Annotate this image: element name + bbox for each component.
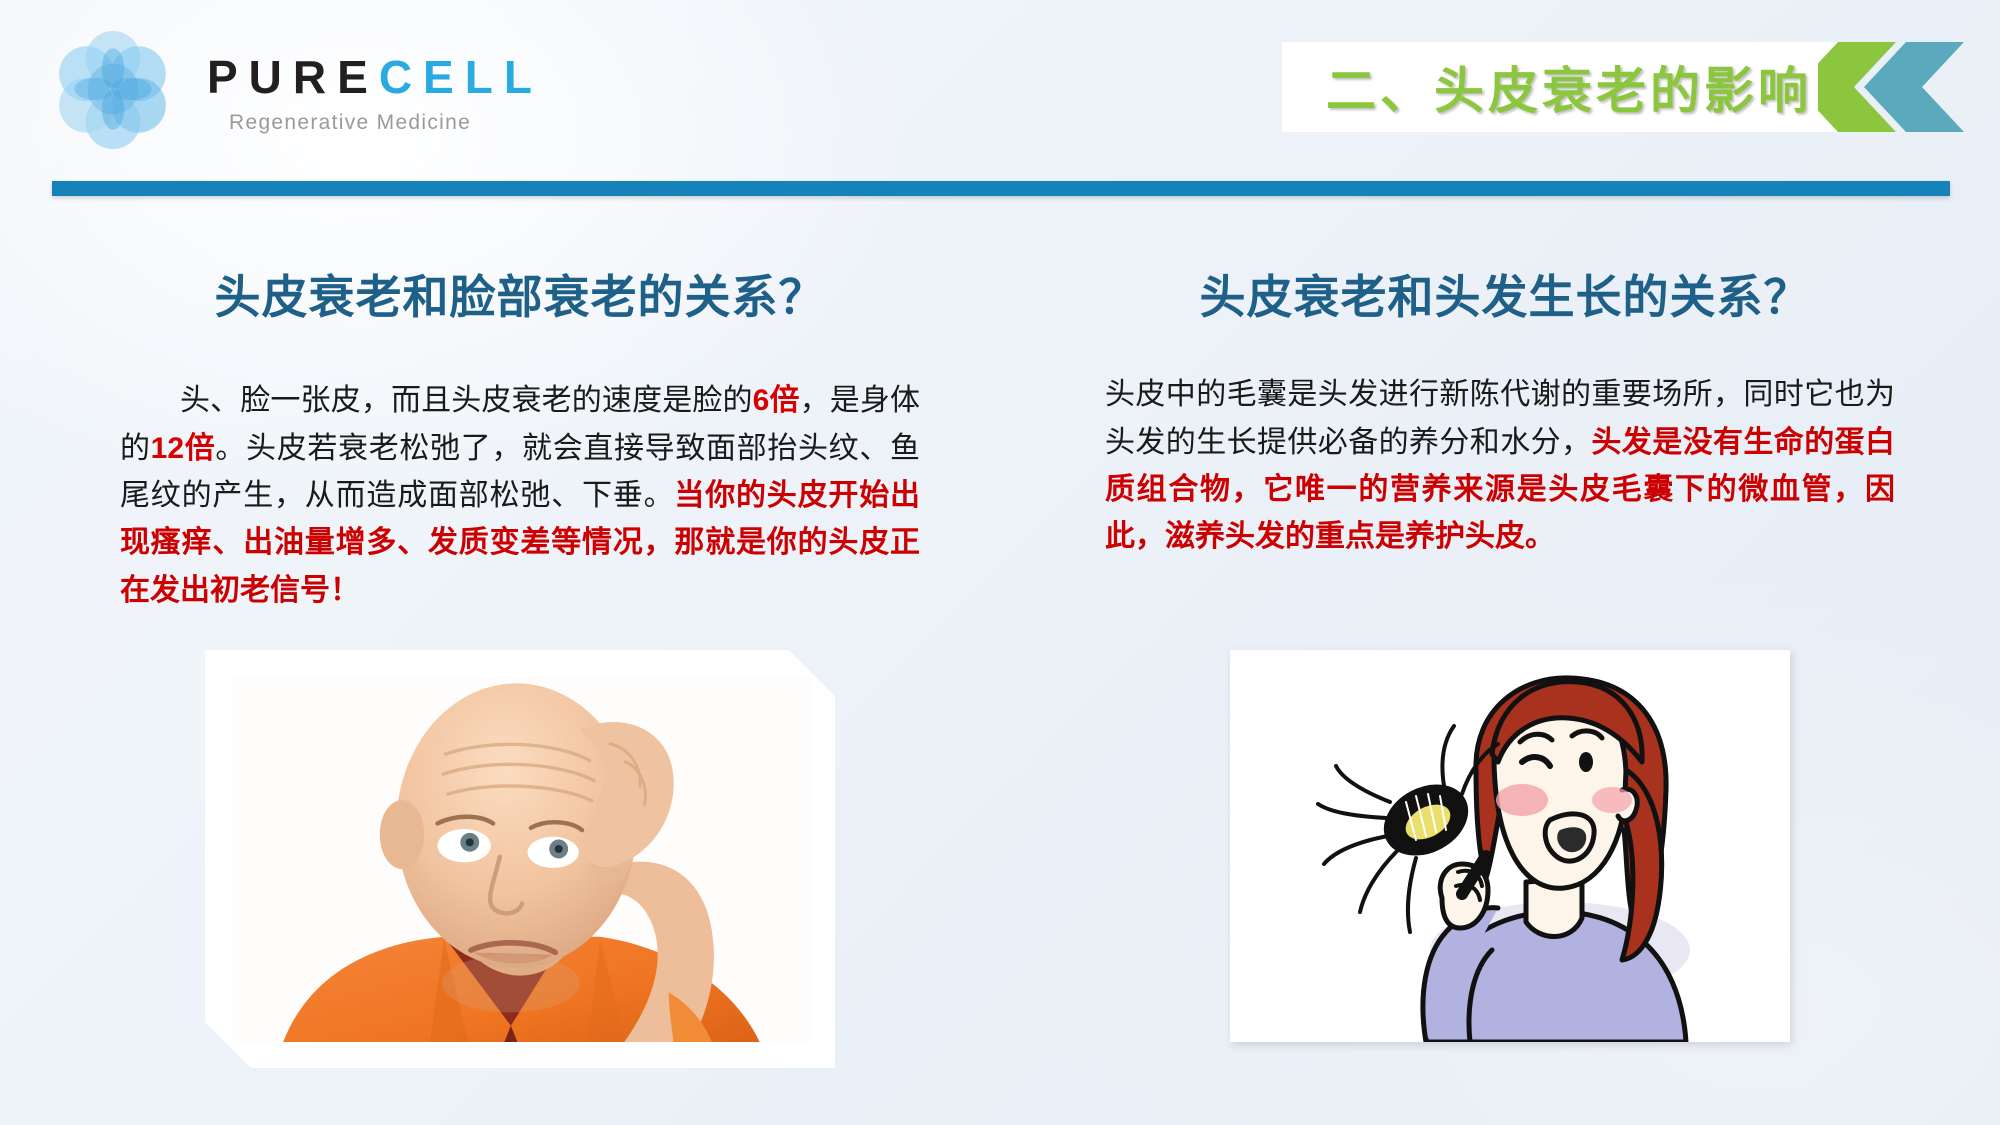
left-column-heading: 头皮衰老和脸部衰老的关系？ — [120, 270, 920, 325]
brand-tagline: Regenerative Medicine — [229, 111, 543, 135]
right-illustration-frame — [1230, 650, 1790, 1042]
double-chevron-left-icon — [1818, 42, 1978, 132]
left-column-paragraph: 头、脸一张皮，而且头皮衰老的速度是脸的6倍，是身体的12倍。头皮若衰老松弛了，就… — [120, 377, 920, 614]
woman-hair-loss-brush-illustration — [1230, 650, 1790, 1042]
left-column: 头皮衰老和脸部衰老的关系？ 头、脸一张皮，而且头皮衰老的速度是脸的6倍，是身体的… — [120, 270, 920, 614]
purecell-flower-logo — [52, 28, 174, 150]
left-text-seg1: 头、脸一张皮，而且头皮衰老的速度是脸的 — [180, 384, 753, 417]
brand-name-cell: CELL — [379, 51, 543, 103]
left-text-highlight-6x: 6倍 — [753, 384, 800, 417]
slide-header: PURECELL Regenerative Medicine 二、头皮衰老的影响 — [0, 0, 2000, 195]
section-title: 二、头皮衰老的影响 — [1326, 51, 1812, 123]
brand-name-pure: PURE — [207, 51, 379, 103]
section-title-plate: 二、头皮衰老的影响 — [1282, 42, 1838, 132]
header-divider — [52, 181, 1950, 196]
brand-logo[interactable]: PURECELL Regenerative Medicine — [52, 26, 512, 146]
left-text-highlight-12x: 12倍 — [151, 432, 216, 465]
left-photo-frame — [205, 650, 835, 1068]
bald-man-scratching-head-photo — [233, 676, 811, 1042]
brand-wordmark: PURECELL Regenerative Medicine — [207, 54, 543, 135]
right-column-heading: 头皮衰老和头发生长的关系？ — [1105, 270, 1905, 325]
right-column-paragraph: 头皮中的毛囊是头发进行新陈代谢的重要场所，同时它也为头发的生长提供必备的养分和水… — [1105, 371, 1895, 561]
right-column: 头皮衰老和头发生长的关系？ 头皮中的毛囊是头发进行新陈代谢的重要场所，同时它也为… — [1105, 270, 1905, 561]
